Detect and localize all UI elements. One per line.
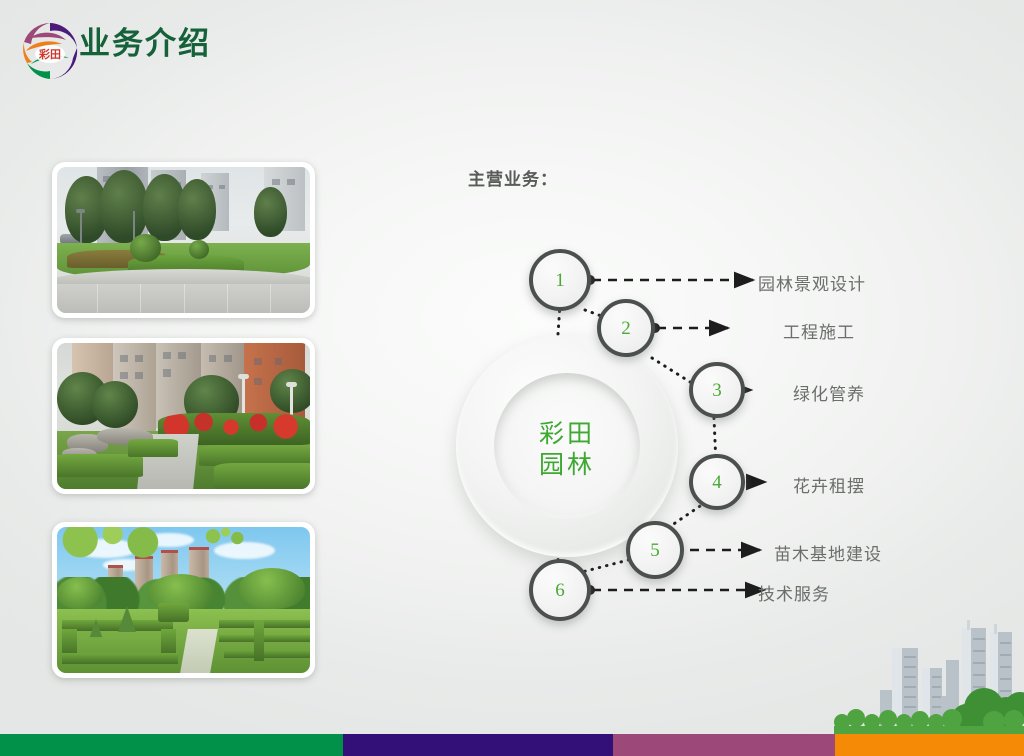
service-node-5[interactable]: 5 xyxy=(626,521,684,579)
company-logo-icon: 彩田 xyxy=(17,18,83,84)
service-label-5: 苗木基地建设 xyxy=(774,540,882,565)
bottom-color-bar xyxy=(0,734,1024,756)
service-node-6[interactable]: 6 xyxy=(529,559,591,621)
service-node-6-number: 6 xyxy=(555,581,565,600)
service-node-4-number: 4 xyxy=(712,473,722,492)
service-label-4: 花卉租摆 xyxy=(793,472,865,497)
service-label-3: 绿化管养 xyxy=(793,380,865,405)
bar-segment-magenta xyxy=(613,734,835,756)
service-node-2[interactable]: 2 xyxy=(597,299,655,357)
page-title: 业务介绍 xyxy=(79,22,211,66)
service-node-2-number: 2 xyxy=(621,319,631,338)
slide-header: 彩田 业务介绍 xyxy=(0,0,1024,86)
bar-segment-green xyxy=(0,734,343,756)
center-ring-hole: 彩田 园林 xyxy=(494,373,640,519)
svg-text:彩田: 彩田 xyxy=(38,47,61,61)
bar-segment-purple xyxy=(343,734,613,756)
bar-segment-orange xyxy=(835,734,1024,756)
city-skyline-graphic xyxy=(834,616,1024,734)
main-business-diagram: 主营业务： xyxy=(440,150,1000,650)
photo-courtyard-garden xyxy=(52,162,315,318)
service-label-1: 园林景观设计 xyxy=(758,270,866,295)
service-label-6: 技术服务 xyxy=(758,580,830,605)
service-node-3[interactable]: 3 xyxy=(689,362,745,418)
service-node-1-number: 1 xyxy=(555,271,565,290)
photo-formal-hedge-garden xyxy=(52,522,315,678)
service-node-5-number: 5 xyxy=(650,541,660,560)
photo-residential-flower-garden xyxy=(52,338,315,494)
service-node-4[interactable]: 4 xyxy=(689,454,745,510)
center-brand-label: 彩田 园林 xyxy=(494,419,640,481)
slide-canvas: 彩田 业务介绍 xyxy=(0,0,1024,756)
service-node-3-number: 3 xyxy=(712,381,722,400)
service-node-1[interactable]: 1 xyxy=(529,249,591,311)
service-label-2: 工程施工 xyxy=(783,318,855,343)
